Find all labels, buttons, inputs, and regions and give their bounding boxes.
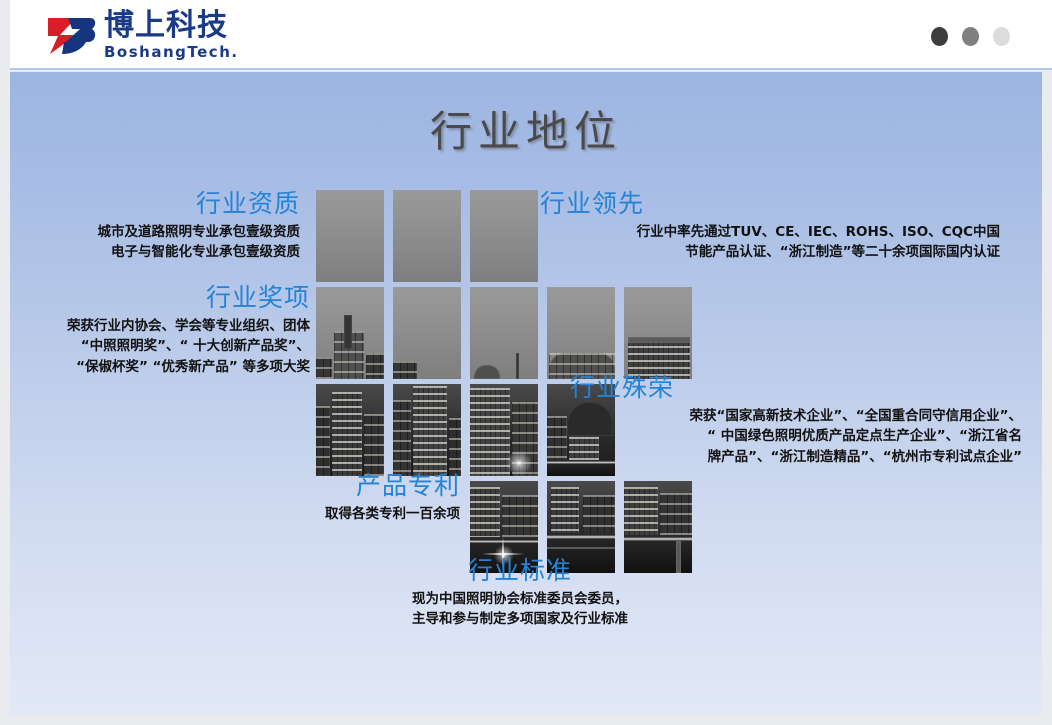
- mosaic-tile: [624, 287, 692, 379]
- block-honors: 行业殊荣 荣获“国家高新技术企业”、“全国重合同守信用企业”、 “ 中国绿色照明…: [570, 374, 1022, 468]
- dot-dark-icon[interactable]: [931, 27, 948, 46]
- dot-light-icon[interactable]: [993, 27, 1010, 46]
- block-honors-body: 荣获“国家高新技术企业”、“全国重合同守信用企业”、 “ 中国绿色照明优质产品定…: [570, 406, 1022, 469]
- block-patent: 产品专利 取得各类专利一百余项: [200, 472, 460, 524]
- block-qualification: 行业资质 城市及道路照明专业承包壹级资质 电子与智能化专业承包壹级资质: [30, 190, 300, 263]
- mosaic-tile: [393, 190, 461, 282]
- block-honors-heading: 行业殊荣: [570, 374, 1022, 402]
- site-header: 博上科技 BoshangTech.: [10, 0, 1052, 70]
- block-leading-heading: 行业领先: [540, 190, 1000, 218]
- light-glow: [506, 450, 532, 476]
- block-standard: 行业标准 现为中国照明协会标准委员会委员， 主导和参与制定多项国家及行业标准: [330, 557, 710, 630]
- block-standard-heading: 行业标准: [330, 557, 710, 585]
- header-dots: [931, 27, 1010, 46]
- text-line: 牌产品”、“浙江制造精品”、“杭州市专利试点企业”: [570, 447, 1022, 468]
- block-qualification-body: 城市及道路照明专业承包壹级资质 电子与智能化专业承包壹级资质: [30, 222, 300, 264]
- block-awards: 行业奖项 荣获行业内协会、学会等专业组织、团体 “中照照明奖”、“ 十大创新产品…: [30, 284, 310, 378]
- text-line: 行业中率先通过TUV、CE、IEC、ROHS、ISO、CQC中国: [540, 222, 1000, 243]
- text-line: “中照照明奖”、“ 十大创新产品奖”、: [30, 336, 310, 357]
- mosaic-tile: [470, 190, 538, 282]
- logo-text: 博上科技 BoshangTech.: [104, 11, 239, 61]
- text-line: 取得各类专利一百余项: [200, 504, 460, 525]
- block-standard-body: 现为中国照明协会标准委员会委员， 主导和参与制定多项国家及行业标准: [330, 589, 710, 631]
- dot-medium-icon[interactable]: [962, 27, 979, 46]
- mosaic-tile: [393, 384, 461, 476]
- mosaic-tile: [316, 287, 384, 379]
- block-qualification-heading: 行业资质: [30, 190, 300, 218]
- boshang-b-logo-icon: [46, 15, 98, 57]
- text-line: 主导和参与制定多项国家及行业标准: [330, 609, 710, 630]
- block-patent-heading: 产品专利: [200, 472, 460, 500]
- text-line: 现为中国照明协会标准委员会委员，: [330, 589, 710, 610]
- text-line: 节能产品认证、“浙江制造”等二十余项国际国内认证: [540, 242, 1000, 263]
- mosaic-tile: [470, 384, 538, 476]
- mosaic-tile: [316, 384, 384, 476]
- mosaic-tile: [547, 287, 615, 379]
- mosaic-tile: [316, 190, 384, 282]
- text-line: 城市及道路照明专业承包壹级资质: [30, 222, 300, 243]
- text-line: “保俶杯奖” “优秀新产品” 等多项大奖: [30, 357, 310, 378]
- slide-canvas: 行业地位: [10, 72, 1042, 715]
- logo-english-name: BoshangTech.: [104, 43, 239, 61]
- text-line: 荣获行业内协会、学会等专业组织、团体: [30, 316, 310, 337]
- company-logo[interactable]: 博上科技 BoshangTech.: [46, 10, 239, 62]
- logo-chinese-name: 博上科技: [104, 11, 239, 41]
- text-line: “ 中国绿色照明优质产品定点生产企业”、“浙江省名: [570, 426, 1022, 447]
- presentation-page: 博上科技 BoshangTech. 行业地位: [0, 0, 1052, 725]
- mosaic-tile: [470, 287, 538, 379]
- block-awards-heading: 行业奖项: [30, 284, 310, 312]
- text-line: 荣获“国家高新技术企业”、“全国重合同守信用企业”、: [570, 406, 1022, 427]
- block-leading-body: 行业中率先通过TUV、CE、IEC、ROHS、ISO、CQC中国 节能产品认证、…: [540, 222, 1000, 264]
- text-line: 电子与智能化专业承包壹级资质: [30, 242, 300, 263]
- block-leading: 行业领先 行业中率先通过TUV、CE、IEC、ROHS、ISO、CQC中国 节能…: [540, 190, 1000, 263]
- mosaic-tile: [393, 287, 461, 379]
- block-patent-body: 取得各类专利一百余项: [200, 504, 460, 525]
- block-awards-body: 荣获行业内协会、学会等专业组织、团体 “中照照明奖”、“ 十大创新产品奖”、 “…: [30, 316, 310, 379]
